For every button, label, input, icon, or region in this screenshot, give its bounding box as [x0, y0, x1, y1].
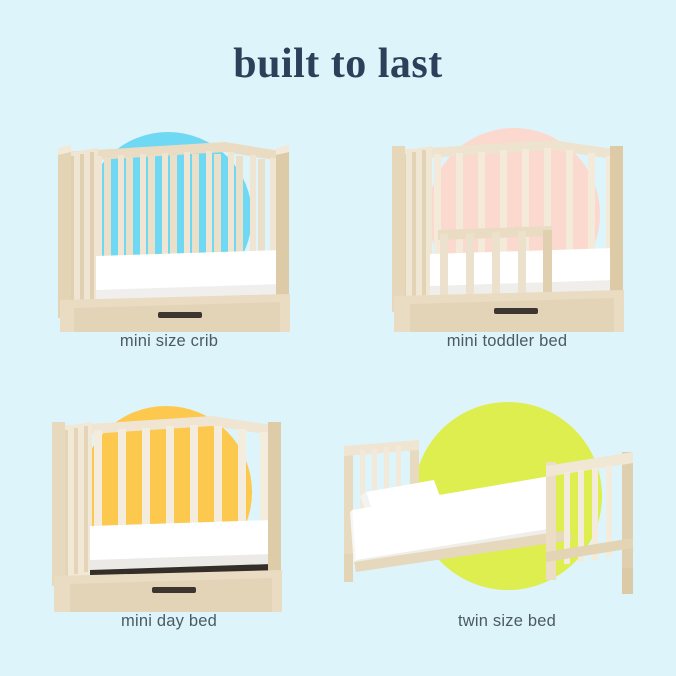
product-grid: mini size crib: [0, 104, 676, 664]
page-title: built to last: [0, 40, 676, 88]
crib-icon: [58, 142, 290, 332]
product-label-mini-toddler-bed: mini toddler bed: [338, 332, 676, 351]
infographic-poster: built to last: [0, 0, 676, 676]
product-card-mini-size-crib[interactable]: mini size crib: [0, 104, 338, 384]
product-card-mini-day-bed[interactable]: mini day bed: [0, 384, 338, 664]
product-image-mini-toddler-bed: [338, 104, 676, 332]
crib-post-right: [276, 148, 289, 318]
drawer-handle: [152, 587, 196, 593]
product-image-twin-size-bed: [338, 384, 676, 612]
product-label-mini-size-crib: mini size crib: [0, 332, 338, 351]
drawer-handle: [494, 308, 538, 314]
product-image-mini-size-crib: [0, 104, 338, 332]
product-card-twin-size-bed[interactable]: twin size bed: [338, 384, 676, 664]
product-label-mini-day-bed: mini day bed: [0, 612, 338, 631]
product-card-mini-toddler-bed[interactable]: mini toddler bed: [338, 104, 676, 384]
drawer-handle: [158, 312, 202, 318]
crib-post-left: [58, 148, 71, 318]
product-label-twin-size-bed: twin size bed: [338, 612, 676, 631]
product-image-mini-day-bed: [0, 384, 338, 612]
